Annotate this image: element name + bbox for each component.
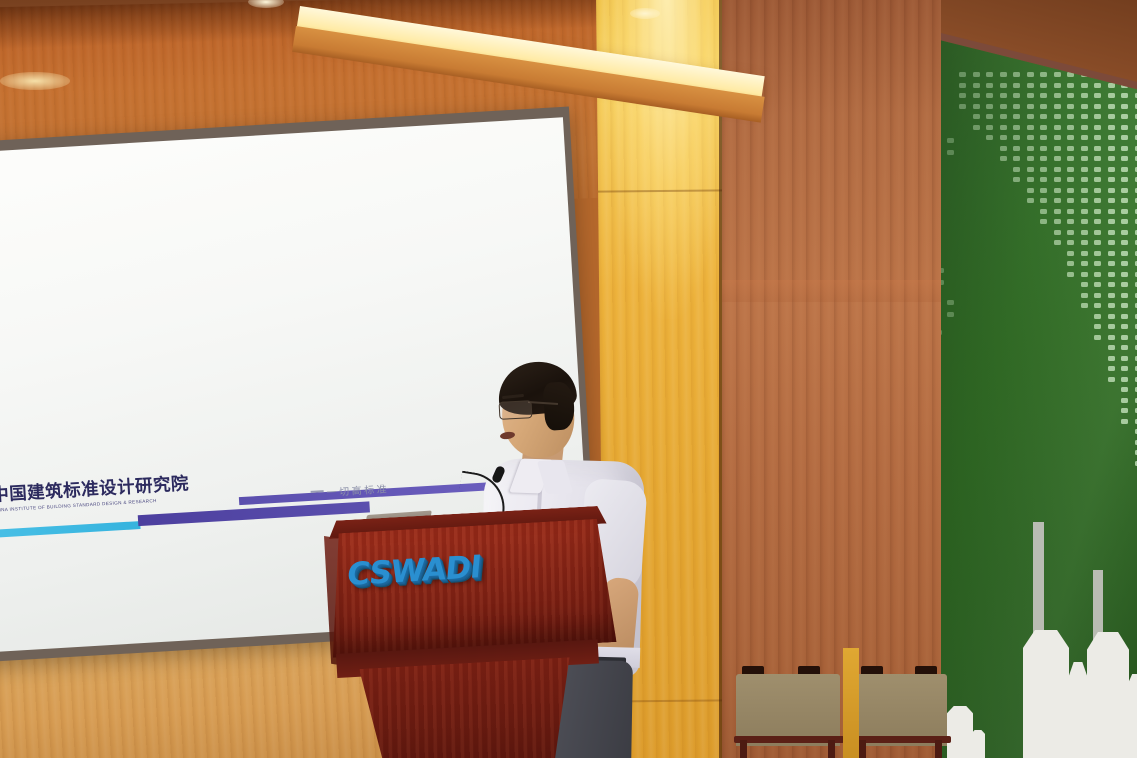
auditorium-seat	[855, 672, 967, 758]
pattern-dot	[1081, 188, 1088, 193]
pattern-dot	[1108, 240, 1115, 245]
pattern-dot	[1094, 93, 1101, 98]
pattern-dot	[1081, 303, 1088, 308]
speaker-podium: CSWADI	[318, 512, 618, 758]
skyline-building	[1087, 632, 1129, 758]
pattern-dot	[1040, 167, 1047, 172]
pattern-dot	[986, 125, 993, 130]
pattern-dot	[1108, 251, 1115, 256]
pattern-dot	[1094, 125, 1101, 130]
pattern-dot	[1013, 72, 1020, 77]
pattern-dot	[1108, 135, 1115, 140]
pattern-dot	[1040, 135, 1047, 140]
pattern-dot	[1108, 272, 1115, 277]
pattern-dot	[1081, 146, 1088, 151]
pattern-dot	[1108, 209, 1115, 214]
pattern-dot	[1121, 156, 1128, 161]
pattern-dot	[1108, 198, 1115, 203]
pattern-dot	[1013, 114, 1020, 119]
pattern-dot	[947, 150, 954, 155]
pattern-dot	[1121, 303, 1128, 308]
pattern-dot	[1013, 104, 1020, 109]
pattern-dot	[1081, 219, 1088, 224]
pattern-dot	[1067, 83, 1074, 88]
pattern-dot	[1094, 272, 1101, 277]
pattern-dot	[1040, 83, 1047, 88]
pattern-dot	[1121, 324, 1128, 329]
pattern-dot	[1067, 104, 1074, 109]
pattern-dot	[1081, 93, 1088, 98]
pattern-dot	[1027, 114, 1034, 119]
pattern-dot	[1054, 240, 1061, 245]
pattern-dot	[1013, 177, 1020, 182]
pattern-dot	[1094, 230, 1101, 235]
pattern-dot	[1094, 135, 1101, 140]
pattern-dot	[1094, 104, 1101, 109]
pattern-dot	[1054, 230, 1061, 235]
pattern-dot	[1067, 272, 1074, 277]
pattern-dot	[1108, 314, 1115, 319]
pattern-dot	[1094, 251, 1101, 256]
pattern-dot	[1121, 125, 1128, 130]
pattern-dot	[1094, 219, 1101, 224]
pattern-dot	[1054, 125, 1061, 130]
pattern-dot	[1067, 156, 1074, 161]
pattern-dot	[1081, 230, 1088, 235]
pattern-dot	[1108, 156, 1115, 161]
pattern-dot	[1121, 345, 1128, 350]
pattern-dot	[1000, 114, 1007, 119]
pattern-dot	[1121, 240, 1128, 245]
pattern-dot	[1027, 177, 1034, 182]
pattern-dot	[1027, 125, 1034, 130]
pattern-dot	[1081, 251, 1088, 256]
pattern-dot	[1027, 146, 1034, 151]
pattern-dot	[1081, 83, 1088, 88]
pattern-dot	[1108, 293, 1115, 298]
pattern-dot	[1108, 219, 1115, 224]
pattern-dot	[1054, 72, 1061, 77]
pattern-dot	[1013, 167, 1020, 172]
skyline-building	[1127, 674, 1137, 758]
pattern-dot	[1094, 83, 1101, 88]
pattern-dot	[1094, 261, 1101, 266]
pattern-dot	[1108, 177, 1115, 182]
pattern-dot	[1013, 135, 1020, 140]
pattern-dot	[1094, 335, 1101, 340]
pattern-dot	[1040, 125, 1047, 130]
pattern-dot	[1040, 146, 1047, 151]
pattern-dot	[1121, 104, 1128, 109]
pattern-dot	[1040, 93, 1047, 98]
pattern-dot	[1040, 219, 1047, 224]
pattern-dot	[1121, 209, 1128, 214]
pattern-dot	[1000, 104, 1007, 109]
pattern-dot	[1027, 156, 1034, 161]
pattern-dot	[1108, 167, 1115, 172]
pattern-dot	[1108, 324, 1115, 329]
pattern-dot	[1067, 240, 1074, 245]
pattern-dot	[1094, 146, 1101, 151]
pattern-dot	[1027, 167, 1034, 172]
pattern-dot	[1121, 366, 1128, 371]
pattern-dot	[1094, 177, 1101, 182]
pattern-dot	[1067, 188, 1074, 193]
pattern-dot	[1054, 198, 1061, 203]
pattern-dot	[1121, 314, 1128, 319]
pattern-dot	[1121, 198, 1128, 203]
pattern-dot	[1000, 156, 1007, 161]
pattern-dot	[1067, 251, 1074, 256]
pattern-dot	[973, 93, 980, 98]
pattern-dot	[1108, 261, 1115, 266]
pattern-dot	[1121, 282, 1128, 287]
pattern-dot	[1094, 114, 1101, 119]
ceiling-light-icon	[630, 8, 660, 19]
pattern-dot	[1108, 146, 1115, 151]
pattern-dot	[1121, 93, 1128, 98]
pattern-dot	[1121, 408, 1128, 413]
pattern-dot	[1054, 83, 1061, 88]
pattern-dot	[1094, 314, 1101, 319]
pattern-dot	[1013, 93, 1020, 98]
pattern-dot	[1081, 261, 1088, 266]
pattern-dot	[1094, 167, 1101, 172]
pattern-dot	[1040, 209, 1047, 214]
pattern-dot	[1081, 177, 1088, 182]
pattern-dot	[1067, 93, 1074, 98]
pattern-dot	[959, 104, 966, 109]
pattern-dot	[1121, 377, 1128, 382]
column-light-glow	[600, 0, 723, 320]
pattern-dot	[1081, 104, 1088, 109]
pattern-dot	[941, 268, 944, 273]
ceiling-light-icon	[0, 72, 70, 90]
pattern-dot	[1054, 104, 1061, 109]
pattern-dot	[1054, 188, 1061, 193]
pattern-dot	[1108, 282, 1115, 287]
pattern-dot	[1040, 188, 1047, 193]
pattern-dot	[1013, 146, 1020, 151]
pattern-dot	[1094, 209, 1101, 214]
pattern-dot	[1121, 251, 1128, 256]
pattern-dot	[1027, 83, 1034, 88]
pattern-dot	[1108, 345, 1115, 350]
auditorium-seat	[736, 672, 848, 758]
pattern-dot	[1081, 135, 1088, 140]
pattern-dot	[1054, 93, 1061, 98]
city-skyline-graphic	[941, 488, 1137, 758]
pattern-dot	[1027, 104, 1034, 109]
pattern-dot	[1027, 72, 1034, 77]
pattern-dot	[1054, 177, 1061, 182]
pattern-dot	[1067, 114, 1074, 119]
pattern-dot	[1108, 366, 1115, 371]
green-graphic-backdrop	[941, 0, 1137, 758]
pattern-dot	[1067, 146, 1074, 151]
pattern-dot	[1081, 293, 1088, 298]
pattern-dot	[1027, 198, 1034, 203]
pattern-dot	[1000, 83, 1007, 88]
pattern-dot	[1054, 156, 1061, 161]
pattern-dot	[1121, 356, 1128, 361]
skyline-building	[971, 730, 985, 758]
pattern-dot	[986, 93, 993, 98]
pattern-dot	[1081, 156, 1088, 161]
pattern-dot	[1000, 146, 1007, 151]
pattern-dot	[959, 83, 966, 88]
pattern-dot	[1081, 167, 1088, 172]
pattern-dot	[1108, 335, 1115, 340]
pattern-dot	[1040, 72, 1047, 77]
pattern-dot	[1040, 198, 1047, 203]
pattern-dot	[986, 72, 993, 77]
slide-cyan-bar	[0, 521, 141, 541]
pattern-dot	[973, 125, 980, 130]
pattern-dot	[1121, 261, 1128, 266]
pattern-dot	[1121, 146, 1128, 151]
pattern-dot	[947, 300, 954, 305]
pattern-dot	[1054, 135, 1061, 140]
skyline-building	[1069, 662, 1087, 758]
podium-base	[342, 656, 593, 758]
pattern-dot	[1108, 104, 1115, 109]
pattern-dot	[986, 83, 993, 88]
pattern-dot	[1067, 198, 1074, 203]
pattern-dot	[986, 114, 993, 119]
pattern-dot	[1013, 83, 1020, 88]
pattern-dot	[1067, 219, 1074, 224]
pattern-dot	[1081, 282, 1088, 287]
pattern-dot	[1000, 135, 1007, 140]
pattern-dot	[1121, 387, 1128, 392]
pattern-dot	[1121, 114, 1128, 119]
pattern-dot	[1121, 177, 1128, 182]
pattern-dot	[1108, 230, 1115, 235]
pattern-dot	[1094, 303, 1101, 308]
pattern-dot	[1081, 240, 1088, 245]
pattern-dot	[973, 72, 980, 77]
pattern-dot	[973, 83, 980, 88]
pattern-dot	[1094, 188, 1101, 193]
column-grain-band	[722, 280, 947, 302]
pattern-dot	[1081, 125, 1088, 130]
pattern-dot	[1054, 146, 1061, 151]
pattern-dot	[1094, 282, 1101, 287]
pattern-dot	[1067, 135, 1074, 140]
pattern-dot	[1121, 272, 1128, 277]
pattern-dot	[1054, 209, 1061, 214]
pattern-dot	[1040, 114, 1047, 119]
pattern-dot	[959, 72, 966, 77]
pattern-dot	[1067, 261, 1074, 266]
pattern-dot	[1000, 72, 1007, 77]
pattern-dot	[1067, 125, 1074, 130]
pattern-dot	[1121, 188, 1128, 193]
pattern-dot	[1054, 114, 1061, 119]
pattern-dot	[1081, 114, 1088, 119]
pattern-dot	[973, 114, 980, 119]
pattern-dot	[1121, 419, 1128, 424]
pattern-dot	[1027, 135, 1034, 140]
pattern-dot	[1067, 177, 1074, 182]
pattern-dot	[1094, 240, 1101, 245]
pattern-dot	[1121, 230, 1128, 235]
pattern-dot	[986, 135, 993, 140]
conference-hall-photo: 一切高标准 中国建筑标准设计研究院 CHINA INSTITUTE OF BUI…	[0, 0, 1137, 758]
pattern-dot	[1013, 125, 1020, 130]
pattern-dot	[1094, 293, 1101, 298]
pattern-dot	[1000, 125, 1007, 130]
pattern-dot	[1121, 335, 1128, 340]
pattern-dot	[1108, 303, 1115, 308]
pattern-dot	[1067, 167, 1074, 172]
pattern-dot	[1027, 188, 1034, 193]
pattern-dot	[1081, 272, 1088, 277]
pattern-dot	[1040, 104, 1047, 109]
pattern-dot	[1054, 219, 1061, 224]
pattern-dot	[1094, 198, 1101, 203]
pattern-dot	[1108, 377, 1115, 382]
pattern-dot	[1121, 398, 1128, 403]
pattern-dot	[1121, 219, 1128, 224]
pattern-dot	[1108, 114, 1115, 119]
pattern-dot	[1040, 177, 1047, 182]
pattern-dot	[1108, 125, 1115, 130]
pattern-dot	[1121, 135, 1128, 140]
pattern-dot	[1094, 156, 1101, 161]
pattern-dot	[1040, 156, 1047, 161]
pattern-dot	[1081, 209, 1088, 214]
pattern-dot	[1081, 198, 1088, 203]
pattern-dot	[1027, 93, 1034, 98]
skyline-building	[1023, 630, 1069, 758]
seat-divider-panel	[843, 648, 859, 758]
pattern-dot	[1121, 167, 1128, 172]
pattern-dot	[1108, 93, 1115, 98]
pattern-dot	[1000, 93, 1007, 98]
pattern-dot	[1054, 167, 1061, 172]
pattern-dot	[1094, 324, 1101, 329]
pattern-dot	[1013, 156, 1020, 161]
pattern-dot	[1121, 293, 1128, 298]
eyeglasses-icon	[499, 400, 533, 420]
pattern-dot	[1067, 230, 1074, 235]
pattern-dot	[1067, 209, 1074, 214]
pattern-dot	[947, 138, 954, 143]
pattern-dot	[1108, 356, 1115, 361]
pattern-dot	[959, 93, 966, 98]
pattern-dot	[947, 312, 954, 317]
pattern-dot	[973, 104, 980, 109]
pattern-dot	[986, 104, 993, 109]
pattern-dot	[1108, 188, 1115, 193]
pattern-dot	[941, 280, 944, 285]
